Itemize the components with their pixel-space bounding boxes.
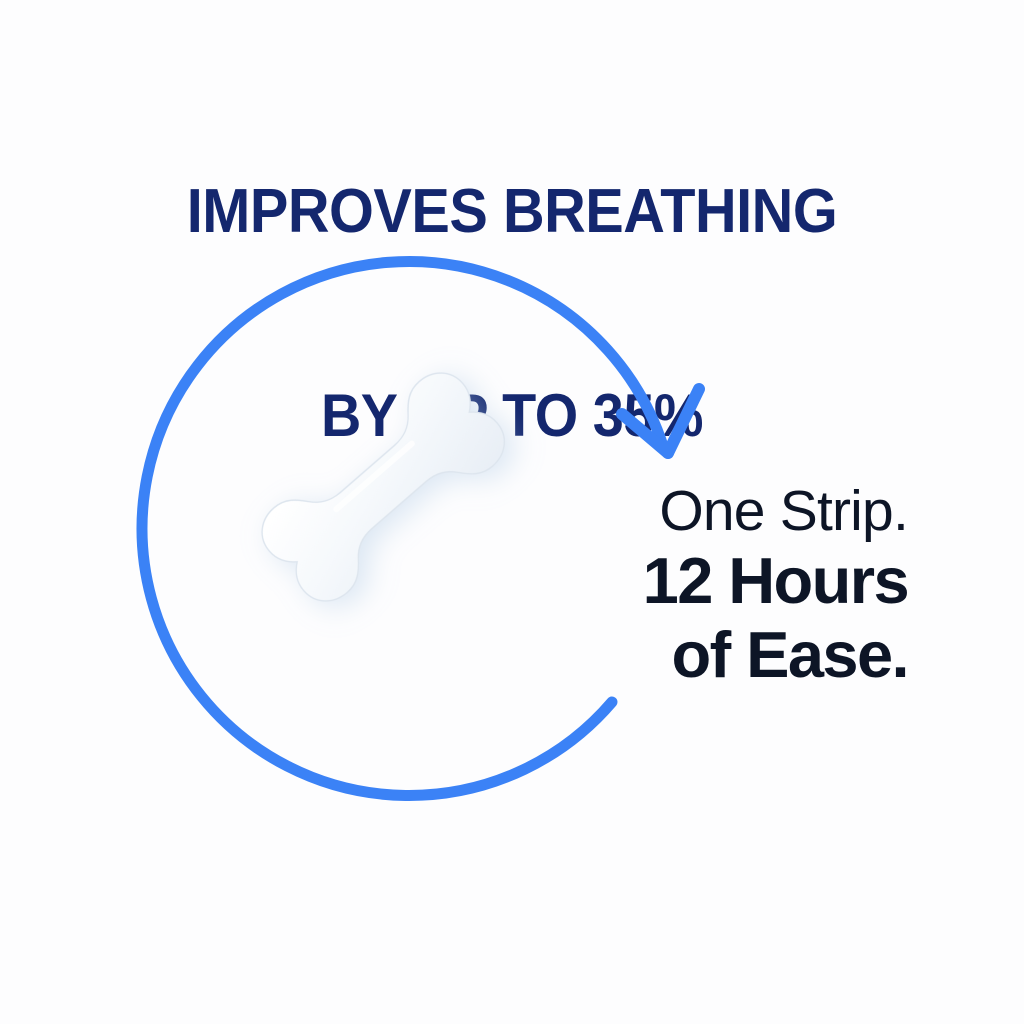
arrow-head-right-tine	[668, 389, 699, 453]
caption-block: One Strip. 12 Hours of Ease.	[560, 478, 908, 692]
strip-body	[250, 361, 517, 613]
caption-line-3: of Ease.	[560, 618, 908, 692]
caption-line-1: One Strip.	[560, 478, 908, 544]
nasal-strip-illustration	[218, 352, 618, 702]
caption-line-2: 12 Hours	[560, 544, 908, 618]
nasal-strip	[218, 352, 618, 702]
poster-canvas: IMPROVES BREATHING BY UP TO 35%	[0, 0, 1024, 1024]
strip-outline	[250, 361, 517, 613]
